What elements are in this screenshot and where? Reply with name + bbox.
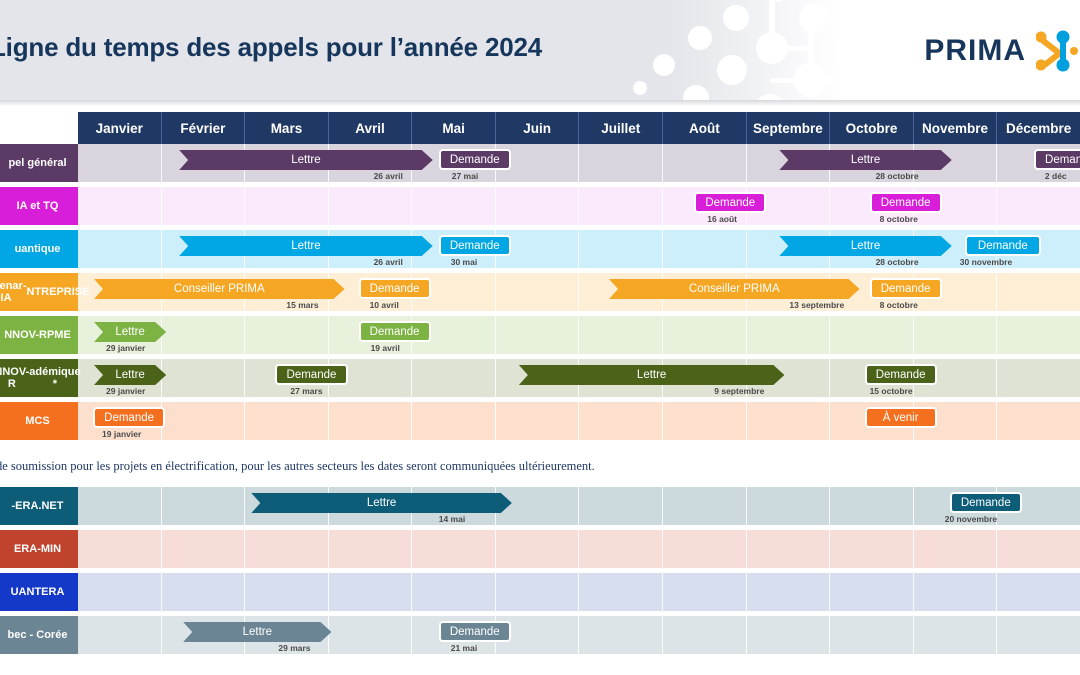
timeline-rows: pel généralLettre26 avrilDemande27 maiLe… — [0, 144, 1080, 445]
row-label-line: pel général — [8, 157, 66, 169]
bar-quebec-coree-1[interactable]: Demande — [439, 621, 511, 642]
bar-partenar-ia-entreprise-3[interactable]: Demande — [870, 278, 942, 299]
bar-date-innov-r-academique-2: 9 septembre — [714, 386, 764, 396]
bar-innov-r-academique-2[interactable]: Lettre — [519, 365, 785, 385]
bar-quantique-0[interactable]: Lettre — [179, 236, 433, 256]
row-band — [78, 573, 1080, 611]
bar-innov-r-academique-0[interactable]: Lettre — [94, 365, 166, 385]
row-label-line: -ERA.NET — [12, 500, 64, 512]
bar-ia-et-tq-1[interactable]: Demande — [870, 192, 942, 213]
bar-date-appel-general-2: 28 octobre — [876, 171, 919, 181]
bar-ia-et-tq-0[interactable]: Demande — [694, 192, 766, 213]
bar-innov-r-academique-1[interactable]: Demande — [275, 364, 347, 385]
row-label-quantera[interactable]: UANTERA — [0, 573, 78, 611]
row-track-innov-r-pme: Lettre29 janvierDemande19 avril — [78, 316, 1080, 354]
row-label-line: ERA-MIN — [14, 543, 61, 555]
row-track-mcs: Demande19 janvierÀ venir — [78, 402, 1080, 440]
row-track-quebec-coree: Lettre29 marsDemande21 mai — [78, 616, 1080, 654]
timeline-grid: JanvierFévrierMarsAvrilMaiJuinJuilletAoû… — [0, 112, 1080, 672]
bar-partenar-ia-entreprise-0[interactable]: Conseiller PRIMA — [94, 279, 345, 299]
row-track-innov-r-academique: Lettre29 janvierDemande27 marsLettre9 se… — [78, 359, 1080, 397]
row-label-innov-r-academique[interactable]: NNOV-Radémique * — [0, 359, 78, 397]
bar-innov-r-academique-3[interactable]: Demande — [865, 364, 937, 385]
bar-date-partenar-ia-entreprise-1: 10 avril — [370, 300, 399, 310]
row-label-line: UANTERA — [11, 586, 65, 598]
bar-appel-general-3[interactable]: Demande — [1034, 149, 1080, 170]
bar-m-era-net-1[interactable]: Demande — [950, 492, 1022, 513]
bar-appel-general-1[interactable]: Demande — [439, 149, 511, 170]
bar-date-innov-r-academique-0: 29 janvier — [106, 386, 145, 396]
bar-date-ia-et-tq-0: 16 août — [707, 214, 737, 224]
page-title: Ligne du temps des appels pour l’année 2… — [0, 32, 542, 63]
bar-partenar-ia-entreprise-1[interactable]: Demande — [359, 278, 431, 299]
month-header-décembre: Décembre — [997, 112, 1080, 144]
row-track-appel-general: Lettre26 avrilDemande27 maiLettre28 octo… — [78, 144, 1080, 182]
bar-date-innov-r-pme-0: 29 janvier — [106, 343, 145, 353]
bar-quantique-1[interactable]: Demande — [439, 235, 511, 256]
bar-quebec-coree-0[interactable]: Lettre — [183, 622, 331, 642]
month-header-mars: Mars — [245, 112, 329, 144]
prima-logo: PRIMA — [924, 30, 1080, 72]
timeline-rows-secondary: -ERA.NETLettre14 maiDemande20 novembreER… — [0, 487, 1080, 659]
bar-date-partenar-ia-entreprise-2: 13 septembre — [789, 300, 844, 310]
logo-text: PRIMA — [924, 34, 1026, 68]
row-label-m-era-net[interactable]: -ERA.NET — [0, 487, 78, 525]
month-header-août: Août — [663, 112, 747, 144]
bar-mcs-0[interactable]: Demande — [93, 407, 165, 428]
bar-date-ia-et-tq-1: 8 octobre — [880, 214, 918, 224]
timeline-row-quantique: uantiqueLettre26 avrilDemande30 maiLettr… — [0, 230, 1080, 268]
row-band — [78, 530, 1080, 568]
bar-date-appel-general-1: 27 mai — [452, 171, 478, 181]
bar-innov-r-pme-0[interactable]: Lettre — [94, 322, 166, 342]
bar-partenar-ia-entreprise-2[interactable]: Conseiller PRIMA — [609, 279, 860, 299]
page-header: Ligne du temps des appels pour l’année 2… — [0, 0, 1080, 100]
month-header-juin: Juin — [496, 112, 580, 144]
bar-date-quantique-3: 30 novembre — [960, 257, 1012, 267]
row-label-partenar-ia-entreprise[interactable]: artenar-IANTREPRISE — [0, 273, 78, 311]
row-label-quantique[interactable]: uantique — [0, 230, 78, 268]
row-label-line: adémique * — [29, 366, 80, 391]
month-header-mai: Mai — [412, 112, 496, 144]
timeline-row-quebec-coree: bec - CoréeLettre29 marsDemande21 mai — [0, 616, 1080, 654]
row-band — [78, 487, 1080, 525]
row-label-line: MCS — [25, 415, 49, 427]
row-track-quantique: Lettre26 avrilDemande30 maiLettre28 octo… — [78, 230, 1080, 268]
timeline-row-appel-general: pel généralLettre26 avrilDemande27 maiLe… — [0, 144, 1080, 182]
bar-date-innov-r-pme-1: 19 avril — [371, 343, 400, 353]
row-track-ia-et-tq: Demande16 aoûtDemande8 octobre — [78, 187, 1080, 225]
bar-quantique-3[interactable]: Demande — [965, 235, 1041, 256]
bar-date-quantique-1: 30 mai — [451, 257, 477, 267]
timeline-row-m-era-net: -ERA.NETLettre14 maiDemande20 novembre — [0, 487, 1080, 525]
bar-mcs-1[interactable]: À venir — [865, 407, 937, 428]
bar-date-quantique-0: 26 avril — [374, 257, 403, 267]
bar-date-innov-r-academique-3: 15 octobre — [870, 386, 913, 396]
row-label-ia-et-tq[interactable]: IA et TQ — [0, 187, 78, 225]
timeline-row-era-min: ERA-MIN — [0, 530, 1080, 568]
month-header-janvier: Janvier — [78, 112, 162, 144]
timeline-row-partenar-ia-entreprise: artenar-IANTREPRISEConseiller PRIMA15 ma… — [0, 273, 1080, 311]
bar-date-m-era-net-0: 14 mai — [439, 514, 465, 524]
row-label-era-min[interactable]: ERA-MIN — [0, 530, 78, 568]
bar-date-partenar-ia-entreprise-0: 15 mars — [286, 300, 318, 310]
logo-mark-icon — [1036, 30, 1080, 72]
row-label-innov-r-pme[interactable]: NNOV-RPME — [0, 316, 78, 354]
row-track-m-era-net: Lettre14 maiDemande20 novembre — [78, 487, 1080, 525]
bar-date-quantique-2: 28 octobre — [876, 257, 919, 267]
month-header-février: Février — [162, 112, 246, 144]
bar-date-partenar-ia-entreprise-3: 8 octobre — [880, 300, 918, 310]
bar-date-quebec-coree-0: 29 mars — [278, 643, 310, 653]
timeline-row-mcs: MCSDemande19 janvierÀ venir — [0, 402, 1080, 440]
row-label-line: NTREPRISE — [27, 286, 90, 298]
bar-date-quebec-coree-1: 21 mai — [451, 643, 477, 653]
timeline-row-innov-r-academique: NNOV-Radémique *Lettre29 janvierDemande2… — [0, 359, 1080, 397]
bar-quantique-2[interactable]: Lettre — [779, 236, 951, 256]
row-label-line: bec - Corée — [8, 629, 68, 641]
month-header-row: JanvierFévrierMarsAvrilMaiJuinJuilletAoû… — [78, 112, 1080, 144]
header-shadow — [0, 100, 1080, 106]
row-label-line: artenar-IA — [0, 280, 27, 305]
row-band — [78, 316, 1080, 354]
bar-date-innov-r-academique-1: 27 mars — [290, 386, 322, 396]
row-label-mcs[interactable]: MCS — [0, 402, 78, 440]
row-gap — [0, 654, 1080, 659]
bar-appel-general-0[interactable]: Lettre — [179, 150, 433, 170]
row-gap — [0, 440, 1080, 445]
month-header-juillet: Juillet — [579, 112, 663, 144]
timeline-row-quantera: UANTERA — [0, 573, 1080, 611]
bar-date-appel-general-0: 26 avril — [374, 171, 403, 181]
row-track-quantera — [78, 573, 1080, 611]
timeline-row-ia-et-tq: IA et TQDemande16 aoûtDemande8 octobre — [0, 187, 1080, 225]
row-track-partenar-ia-entreprise: Conseiller PRIMA15 marsDemande10 avrilCo… — [78, 273, 1080, 311]
bar-date-appel-general-3: 2 déc — [1045, 171, 1067, 181]
bar-innov-r-pme-1[interactable]: Demande — [359, 321, 431, 342]
bar-appel-general-2[interactable]: Lettre — [779, 150, 951, 170]
row-label-line: PME — [47, 329, 71, 341]
month-header-septembre: Septembre — [747, 112, 831, 144]
month-header-octobre: Octobre — [830, 112, 914, 144]
row-label-appel-general[interactable]: pel général — [0, 144, 78, 182]
row-label-line: NNOV-R — [0, 366, 29, 391]
bar-m-era-net-0[interactable]: Lettre — [251, 493, 512, 513]
row-label-quebec-coree[interactable]: bec - Corée — [0, 616, 78, 654]
row-label-line: uantique — [15, 243, 61, 255]
month-header-avril: Avril — [329, 112, 413, 144]
bar-date-mcs-0: 19 janvier — [102, 429, 141, 439]
row-label-line: IA et TQ — [17, 200, 59, 212]
timeline-row-innov-r-pme: NNOV-RPMELettre29 janvierDemande19 avril — [0, 316, 1080, 354]
row-label-line: NNOV-R — [4, 329, 47, 341]
month-header-novembre: Novembre — [914, 112, 998, 144]
bar-date-m-era-net-1: 20 novembre — [945, 514, 997, 524]
timeline-page: Ligne du temps des appels pour l’année 2… — [0, 0, 1080, 675]
footnote: s de soumission pour les projets en élec… — [0, 459, 595, 474]
row-track-era-min — [78, 530, 1080, 568]
